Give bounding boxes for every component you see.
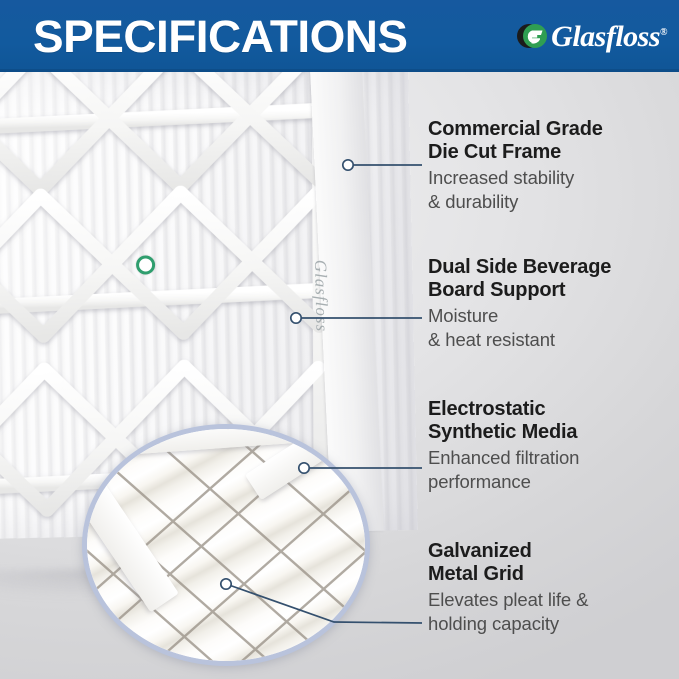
callout-body-line1: Enhanced filtration: [428, 447, 579, 468]
callout-dual-side-beverage-board-support: Dual Side BeverageBoard Support Moisture…: [428, 256, 679, 352]
header-bar: SPECIFICATIONS Glasfloss®: [0, 0, 679, 72]
callout-body: Elevates pleat life &holding capacity: [428, 588, 679, 636]
brand-wordmark-text: Glasfloss: [551, 20, 660, 53]
callout-title-line1: Electrostatic: [428, 398, 545, 420]
callout-title-line2: Metal Grid: [428, 563, 524, 585]
connector-line-4: [229, 585, 422, 623]
page-title: SPECIFICATIONS: [33, 14, 408, 60]
callout-body: Increased stability& durability: [428, 166, 679, 214]
callout-commercial-grade-die-cut-frame: Commercial GradeDie Cut Frame Increased …: [428, 118, 679, 214]
callout-title-line1: Galvanized: [428, 540, 532, 562]
glasfloss-g-logomark: [515, 19, 549, 53]
callout-body-line1: Elevates pleat life &: [428, 589, 588, 610]
callout-body-line2: holding capacity: [428, 613, 559, 634]
callout-body-line1: Moisture: [428, 305, 498, 326]
brand-wordmark: Glasfloss®: [551, 18, 667, 52]
connector-dot-1: [343, 160, 353, 170]
callout-body-line2: performance: [428, 471, 531, 492]
callout-title-line1: Dual Side Beverage: [428, 256, 611, 278]
callout-title-line2: Synthetic Media: [428, 421, 577, 443]
callout-title: ElectrostaticSynthetic Media: [428, 398, 679, 443]
callout-title: Commercial GradeDie Cut Frame: [428, 118, 679, 163]
callout-electrostatic-synthetic-media: ElectrostaticSynthetic Media Enhanced fi…: [428, 398, 679, 494]
callout-body: Enhanced filtrationperformance: [428, 446, 679, 494]
callout-body-line2: & durability: [428, 191, 518, 212]
callout-galvanized-metal-grid: GalvanizedMetal Grid Elevates pleat life…: [428, 540, 679, 636]
callout-body-line1: Increased stability: [428, 167, 574, 188]
callout-body: Moisture& heat resistant: [428, 304, 679, 352]
brand-logo[interactable]: Glasfloss®: [515, 18, 667, 54]
registered-trademark-icon: ®: [660, 27, 667, 38]
callout-title-line1: Commercial Grade: [428, 118, 603, 140]
connector-dot-4: [221, 579, 231, 589]
callout-body-line2: & heat resistant: [428, 329, 555, 350]
callout-title-line2: Die Cut Frame: [428, 141, 561, 163]
specifications-infographic: Glasfloss: [0, 0, 679, 679]
callout-title-line2: Board Support: [428, 279, 565, 301]
callout-title: GalvanizedMetal Grid: [428, 540, 679, 585]
callout-title: Dual Side BeverageBoard Support: [428, 256, 679, 301]
connector-dot-2: [291, 313, 301, 323]
connector-dot-3: [299, 463, 309, 473]
